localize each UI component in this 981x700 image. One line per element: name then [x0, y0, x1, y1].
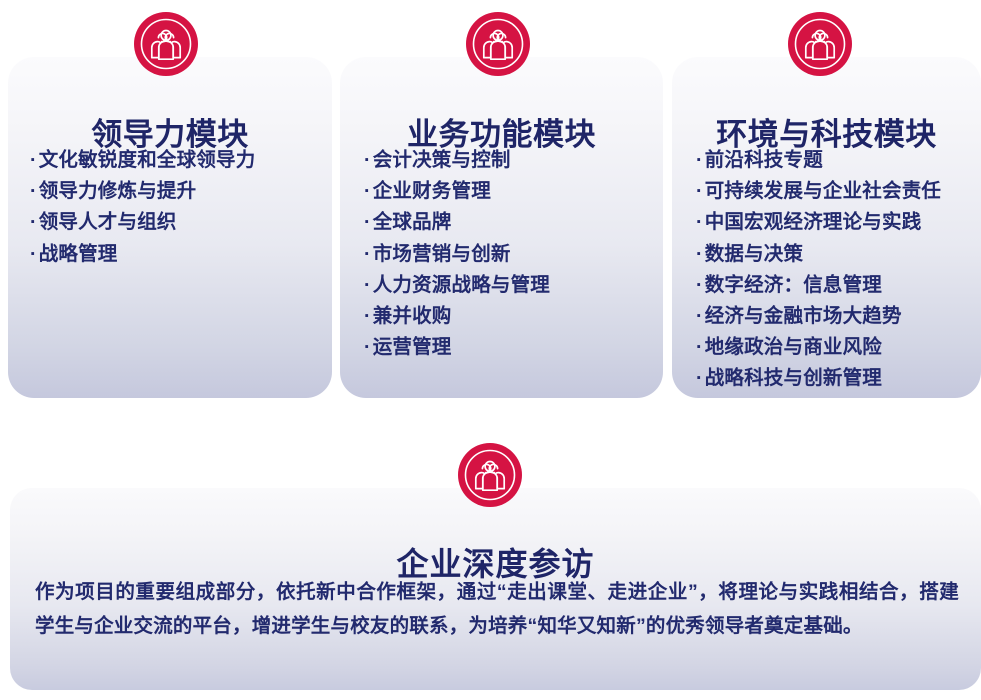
- list-item: ·战略管理: [30, 239, 318, 270]
- people-group-icon: [788, 12, 852, 76]
- course-label: 经济与金融市场大趋势: [705, 305, 902, 327]
- course-label: 全球品牌: [373, 211, 452, 233]
- list-item: ·数字经济：信息管理: [696, 270, 969, 301]
- list-item: ·战略科技与创新管理: [696, 363, 969, 394]
- course-label: 战略管理: [39, 243, 118, 265]
- bullet-icon: ·: [696, 145, 703, 176]
- list-item: ·领导力修炼与提升: [30, 176, 318, 207]
- module-card-business-function: 业务功能模块 ·会计决策与控制 ·企业财务管理 ·全球品牌 ·市场营销与创新 ·…: [340, 57, 663, 398]
- list-item: ·可持续发展与企业社会责任: [696, 176, 969, 207]
- course-label: 人力资源战略与管理: [373, 274, 550, 296]
- course-label: 数字经济：信息管理: [705, 274, 882, 296]
- list-item: ·数据与决策: [696, 239, 969, 270]
- poster-root: 领导力模块 ·文化敏锐度和全球领导力 ·领导力修炼与提升 ·领导人才与组织 ·战…: [0, 0, 981, 700]
- list-item: ·企业财务管理: [364, 176, 649, 207]
- course-label: 战略科技与创新管理: [705, 367, 882, 389]
- course-label: 兼并收购: [373, 305, 452, 327]
- enterprise-visit-card: 企业深度参访 作为项目的重要组成部分，依托新中合作框架，通过“走出课堂、走进企业…: [10, 488, 981, 690]
- bullet-icon: ·: [696, 239, 703, 270]
- course-label: 会计决策与控制: [373, 149, 511, 171]
- list-item: ·前沿科技专题: [696, 145, 969, 176]
- list-item: ·领导人才与组织: [30, 207, 318, 238]
- bullet-icon: ·: [364, 332, 371, 363]
- list-item: ·文化敏锐度和全球领导力: [30, 145, 318, 176]
- module-card-environment-technology: 环境与科技模块 ·前沿科技专题 ·可持续发展与企业社会责任 ·中国宏观经济理论与…: [672, 57, 981, 398]
- people-group-icon: [134, 12, 198, 76]
- bullet-icon: ·: [30, 239, 37, 270]
- enterprise-visit-title: 企业深度参访: [10, 548, 981, 580]
- module-card-leadership: 领导力模块 ·文化敏锐度和全球领导力 ·领导力修炼与提升 ·领导人才与组织 ·战…: [8, 57, 332, 398]
- enterprise-visit-body: 作为项目的重要组成部分，依托新中合作框架，通过“走出课堂、走进企业”，将理论与实…: [35, 576, 959, 643]
- course-label: 市场营销与创新: [373, 243, 511, 265]
- course-label: 前沿科技专题: [705, 149, 823, 171]
- bullet-icon: ·: [364, 270, 371, 301]
- course-label: 中国宏观经济理论与实践: [705, 211, 922, 233]
- bullet-icon: ·: [696, 363, 703, 394]
- bullet-icon: ·: [696, 270, 703, 301]
- people-group-icon: [466, 12, 530, 76]
- bullet-icon: ·: [364, 301, 371, 332]
- list-item: ·中国宏观经济理论与实践: [696, 207, 969, 238]
- list-item: ·全球品牌: [364, 207, 649, 238]
- bullet-icon: ·: [696, 176, 703, 207]
- bullet-icon: ·: [364, 145, 371, 176]
- course-label: 数据与决策: [705, 243, 804, 265]
- course-label: 领导人才与组织: [39, 211, 177, 233]
- course-label: 运营管理: [373, 336, 452, 358]
- list-item: ·会计决策与控制: [364, 145, 649, 176]
- bullet-icon: ·: [696, 207, 703, 238]
- bullet-icon: ·: [364, 207, 371, 238]
- bullet-icon: ·: [30, 176, 37, 207]
- bullet-icon: ·: [696, 301, 703, 332]
- list-item: ·经济与金融市场大趋势: [696, 301, 969, 332]
- module-course-list: ·前沿科技专题 ·可持续发展与企业社会责任 ·中国宏观经济理论与实践 ·数据与决…: [696, 145, 969, 395]
- course-label: 企业财务管理: [373, 180, 491, 202]
- bullet-icon: ·: [30, 207, 37, 238]
- bullet-icon: ·: [696, 332, 703, 363]
- course-label: 地缘政治与商业风险: [705, 336, 882, 358]
- bullet-icon: ·: [364, 239, 371, 270]
- module-course-list: ·文化敏锐度和全球领导力 ·领导力修炼与提升 ·领导人才与组织 ·战略管理: [30, 145, 318, 270]
- list-item: ·兼并收购: [364, 301, 649, 332]
- list-item: ·地缘政治与商业风险: [696, 332, 969, 363]
- course-label: 文化敏锐度和全球领导力: [39, 149, 256, 171]
- people-group-icon: [458, 443, 522, 507]
- list-item: ·人力资源战略与管理: [364, 270, 649, 301]
- bullet-icon: ·: [364, 176, 371, 207]
- bullet-icon: ·: [30, 145, 37, 176]
- course-label: 领导力修炼与提升: [39, 180, 197, 202]
- list-item: ·运营管理: [364, 332, 649, 363]
- list-item: ·市场营销与创新: [364, 239, 649, 270]
- course-label: 可持续发展与企业社会责任: [705, 180, 941, 202]
- module-course-list: ·会计决策与控制 ·企业财务管理 ·全球品牌 ·市场营销与创新 ·人力资源战略与…: [364, 145, 649, 363]
